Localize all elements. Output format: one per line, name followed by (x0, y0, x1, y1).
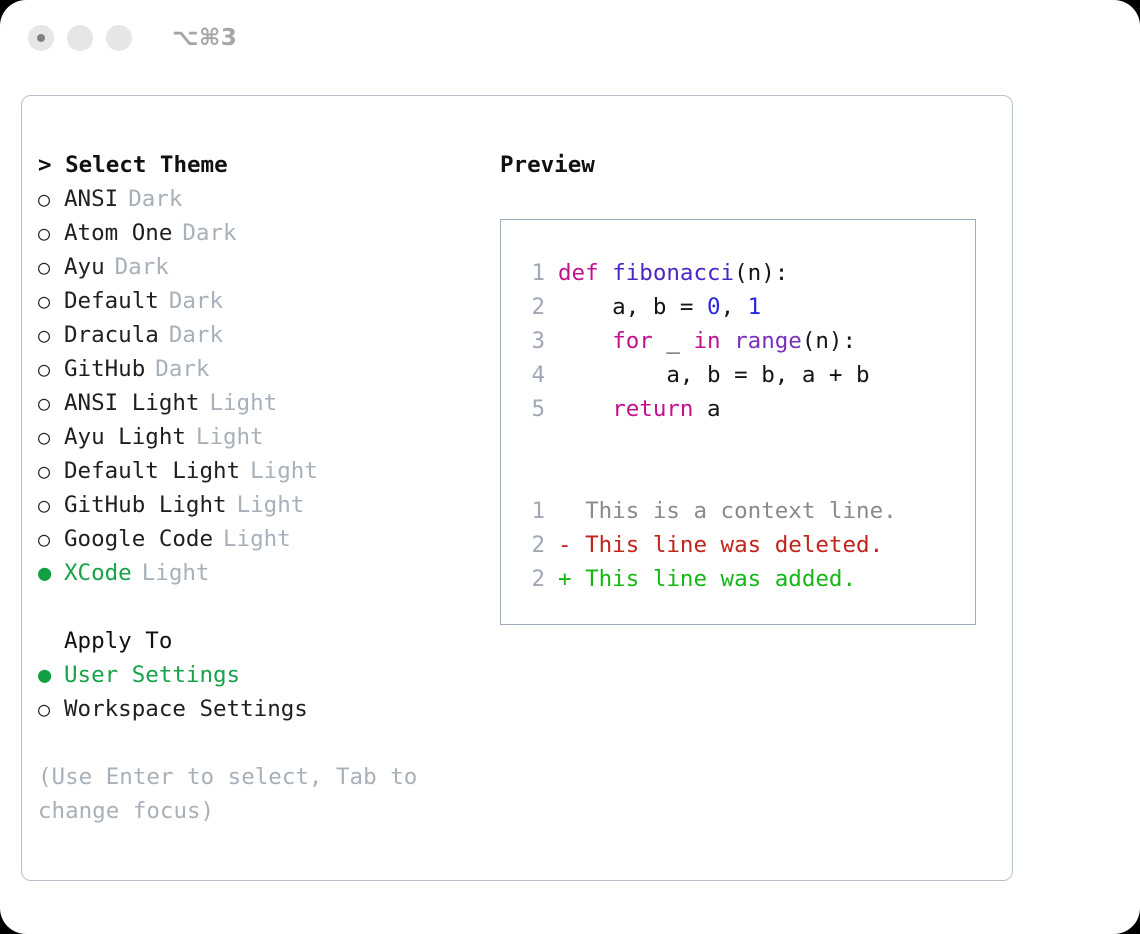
window-title: ⌥⌘3 (172, 25, 237, 51)
diff-text: This is a context line. (585, 498, 897, 524)
minimize-window-icon[interactable] (67, 25, 93, 51)
diff-marker: + (558, 566, 572, 592)
theme-option-ansi[interactable]: ○ANSIDark (38, 182, 498, 216)
theme-option-ayu[interactable]: ○AyuDark (38, 250, 498, 284)
keyboard-hint: (Use Enter to select, Tab to change focu… (38, 760, 458, 828)
select-theme-heading: > Select Theme (38, 148, 498, 182)
theme-option-variant: Dark (115, 250, 169, 284)
radio-selected-icon: ● (38, 659, 64, 693)
diff-marker: - (558, 532, 572, 558)
code-line-text: def fibonacci(n): (558, 256, 788, 290)
code-sample: 1def fibonacci(n):2 a, b = 0, 13 for _ i… (515, 256, 975, 426)
code-line-number: 2 (515, 290, 545, 324)
theme-option-variant: Light (250, 454, 318, 488)
code-token-pln (558, 396, 612, 422)
radio-selected-icon: ● (38, 557, 64, 591)
window-titlebar: ⌥⌘3 (0, 0, 1140, 76)
theme-option-variant: Light (142, 556, 210, 590)
diff-marker (558, 498, 572, 524)
radio-unselected-icon: ○ (38, 216, 64, 250)
diff-text: This line was added. (585, 566, 856, 592)
code-token-kw: def (558, 260, 599, 286)
diff-line-add: 2+ This line was added. (515, 562, 975, 596)
diff-text: This line was deleted. (585, 532, 883, 558)
radio-unselected-icon: ○ (38, 386, 64, 420)
code-token-pln: (n): (802, 328, 856, 354)
diff-sample: 1 This is a context line.2- This line wa… (515, 494, 975, 596)
radio-unselected-icon: ○ (38, 454, 64, 488)
close-window-icon[interactable] (28, 25, 54, 51)
code-token-kw: return (612, 396, 693, 422)
code-line-text: for _ in range(n): (558, 324, 856, 358)
apply-to-option-label: Workspace Settings (64, 692, 308, 726)
tui-content: > Select Theme ○ANSIDark○Atom OneDark○Ay… (22, 96, 1012, 880)
app-window: ⌥⌘3 > Select Theme ○ANSIDark○Atom OneDar… (0, 0, 1140, 934)
code-diff-spacer (515, 426, 975, 460)
theme-option-github-light[interactable]: ○GitHub LightLight (38, 488, 498, 522)
theme-option-variant: Dark (169, 284, 223, 318)
diff-line-number: 1 (515, 494, 545, 528)
radio-unselected-icon: ○ (38, 250, 64, 284)
code-line-number: 4 (515, 358, 545, 392)
theme-option-name: Ayu Light (64, 420, 186, 454)
radio-unselected-icon: ○ (38, 284, 64, 318)
theme-option-default-light[interactable]: ○Default LightLight (38, 454, 498, 488)
radio-unselected-icon: ○ (38, 692, 64, 726)
diff-line-text: - This line was deleted. (558, 528, 883, 562)
code-line: 5 return a (515, 392, 975, 426)
radio-unselected-icon: ○ (38, 182, 64, 216)
theme-option-name: Default (64, 284, 159, 318)
code-diff-spacer-2 (515, 460, 975, 494)
code-token-num: 1 (748, 294, 762, 320)
theme-option-variant: Dark (169, 318, 223, 352)
theme-option-ayu-light[interactable]: ○Ayu LightLight (38, 420, 498, 454)
preview-box: 1def fibonacci(n):2 a, b = 0, 13 for _ i… (500, 219, 976, 625)
theme-list: ○ANSIDark○Atom OneDark○AyuDark○DefaultDa… (38, 182, 498, 590)
theme-option-variant: Light (209, 386, 277, 420)
terminal-frame: > Select Theme ○ANSIDark○Atom OneDark○Ay… (21, 95, 1013, 881)
theme-option-name: Ayu (64, 250, 105, 284)
theme-option-name: Atom One (64, 216, 172, 250)
preview-heading: Preview (500, 148, 1000, 182)
radio-unselected-icon: ○ (38, 488, 64, 522)
apply-to-heading: Apply To (64, 624, 498, 658)
theme-option-google-code[interactable]: ○Google CodeLight (38, 522, 498, 556)
theme-option-name: ANSI (64, 182, 118, 216)
preview-panel: Preview 1def fibonacci(n):2 a, b = 0, 13… (500, 148, 1000, 625)
theme-option-variant: Dark (155, 352, 209, 386)
code-line: 4 a, b = b, a + b (515, 358, 975, 392)
radio-unselected-icon: ○ (38, 522, 64, 556)
apply-to-option-workspace-settings[interactable]: ○Workspace Settings (38, 692, 498, 726)
theme-option-name: XCode (64, 556, 132, 590)
diff-line-number: 2 (515, 528, 545, 562)
code-line-number: 3 (515, 324, 545, 358)
code-token-kw: in (693, 328, 720, 354)
code-line-text: a, b = 0, 1 (558, 290, 761, 324)
diff-line-del: 2- This line was deleted. (515, 528, 975, 562)
code-token-pln: a, b = b, a + b (558, 362, 870, 388)
theme-option-github[interactable]: ○GitHubDark (38, 352, 498, 386)
code-line-number: 5 (515, 392, 545, 426)
code-line-text: return a (558, 392, 721, 426)
diff-line-ctx: 1 This is a context line. (515, 494, 975, 528)
radio-unselected-icon: ○ (38, 352, 64, 386)
code-token-pln: _ (653, 328, 694, 354)
theme-option-name: GitHub (64, 352, 145, 386)
theme-option-variant: Light (237, 488, 305, 522)
theme-option-dracula[interactable]: ○DraculaDark (38, 318, 498, 352)
code-line-text: a, b = b, a + b (558, 358, 870, 392)
diff-line-text: This is a context line. (558, 494, 897, 528)
code-token-pln: a (693, 396, 720, 422)
radio-unselected-icon: ○ (38, 420, 64, 454)
theme-option-xcode[interactable]: ●XCodeLight (38, 556, 498, 590)
code-token-pln: , (721, 294, 748, 320)
theme-option-variant: Dark (182, 216, 236, 250)
code-line: 3 for _ in range(n): (515, 324, 975, 358)
code-line: 2 a, b = 0, 1 (515, 290, 975, 324)
radio-unselected-icon: ○ (38, 318, 64, 352)
code-line-number: 1 (515, 256, 545, 290)
theme-option-name: ANSI Light (64, 386, 199, 420)
theme-option-ansi-light[interactable]: ○ANSI LightLight (38, 386, 498, 420)
apply-to-option-user-settings[interactable]: ●User Settings (38, 658, 498, 692)
code-token-num: 0 (707, 294, 721, 320)
theme-option-variant: Light (196, 420, 264, 454)
theme-option-name: GitHub Light (64, 488, 227, 522)
code-token-pln: a, b = (558, 294, 707, 320)
diff-line-number: 2 (515, 562, 545, 596)
code-line: 1def fibonacci(n): (515, 256, 975, 290)
theme-picker-panel: > Select Theme ○ANSIDark○Atom OneDark○Ay… (38, 148, 498, 828)
code-token-call: range (734, 328, 802, 354)
diff-line-text: + This line was added. (558, 562, 856, 596)
apply-to-option-label: User Settings (64, 658, 240, 692)
code-token-pln (599, 260, 613, 286)
code-token-kw: for (612, 328, 653, 354)
maximize-window-icon[interactable] (106, 25, 132, 51)
apply-to-list: ●User Settings○Workspace Settings (38, 658, 498, 726)
code-token-pln: (n): (734, 260, 788, 286)
theme-option-atom-one[interactable]: ○Atom OneDark (38, 216, 498, 250)
theme-option-default[interactable]: ○DefaultDark (38, 284, 498, 318)
theme-option-name: Dracula (64, 318, 159, 352)
theme-option-name: Google Code (64, 522, 213, 556)
code-token-fn: fibonacci (612, 260, 734, 286)
theme-option-variant: Dark (128, 182, 182, 216)
traffic-light-controls (28, 25, 132, 51)
theme-option-variant: Light (223, 522, 291, 556)
theme-option-name: Default Light (64, 454, 240, 488)
code-token-pln (558, 328, 612, 354)
code-token-pln (721, 328, 735, 354)
